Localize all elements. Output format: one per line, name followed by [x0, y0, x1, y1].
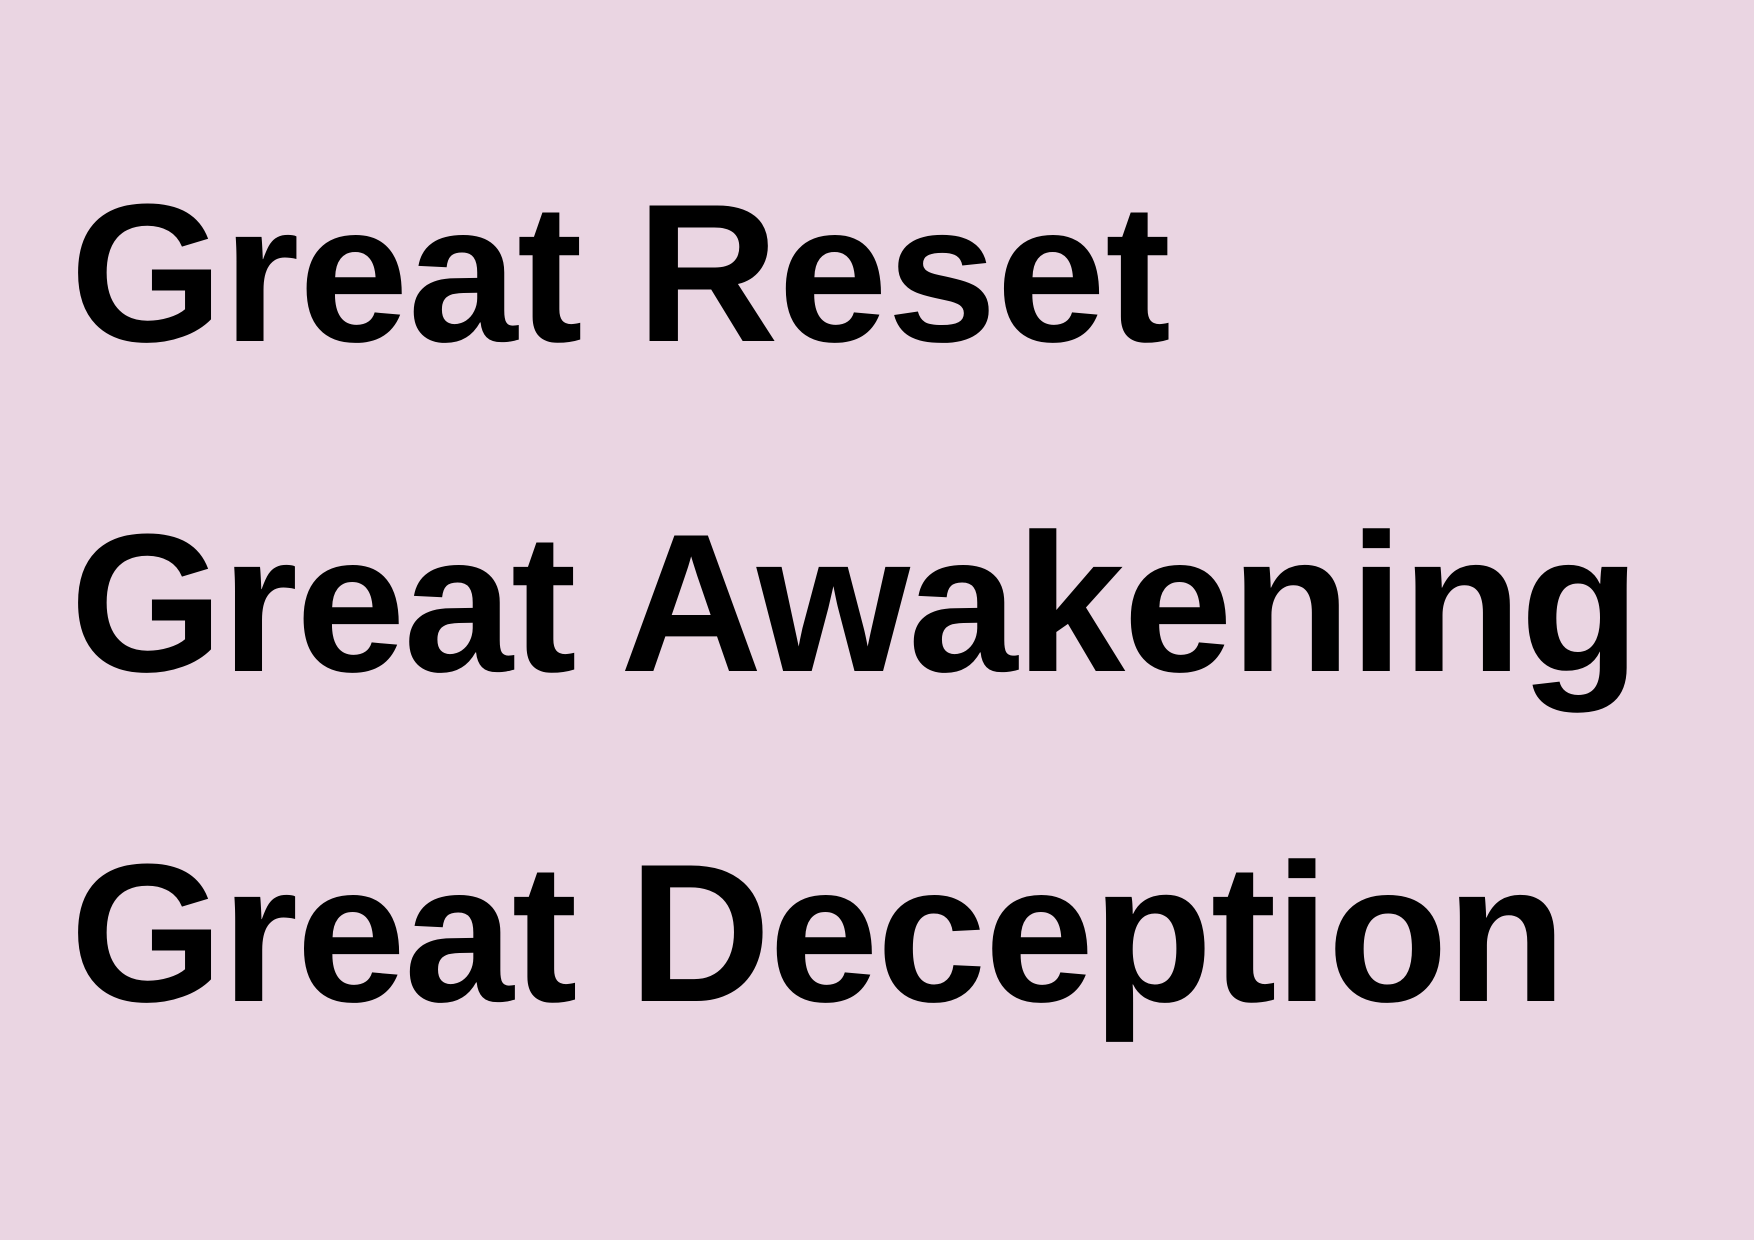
headline-line-great-deception: Great Deception	[70, 768, 1730, 1098]
headline-line-great-reset: Great Reset	[70, 108, 1730, 438]
headline-line-great-awakening: Great Awakening	[70, 438, 1730, 768]
headline-text-block: Great Reset Great Awakening Great Decept…	[70, 0, 1730, 1240]
slide-canvas: Great Reset Great Awakening Great Decept…	[0, 0, 1754, 1240]
